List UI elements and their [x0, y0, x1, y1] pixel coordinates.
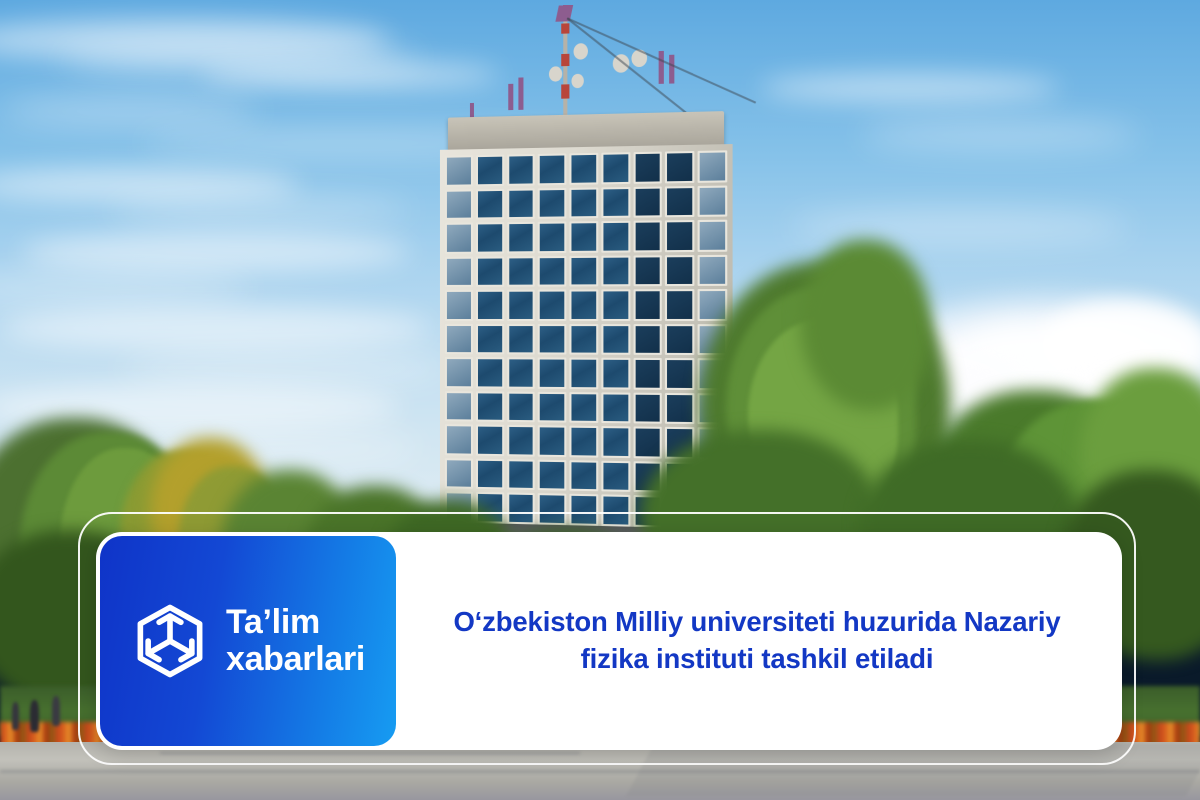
antenna-rod: [518, 77, 523, 109]
antenna-segment: [561, 54, 569, 66]
pedestrian: [30, 700, 39, 732]
cloud-streak: [110, 196, 410, 224]
cube-arrows-logo-icon: [131, 602, 209, 680]
news-banner-card[interactable]: Ta’limxabarlari O‘zbekiston Milliy unive…: [96, 532, 1122, 750]
brand-line-1: Ta’lim: [226, 603, 320, 641]
cloud-streak: [120, 350, 450, 386]
cloud-streak: [0, 306, 430, 350]
antenna-rod: [669, 55, 674, 84]
brand-name: Ta’limxabarlari: [226, 604, 365, 678]
antenna-segment: [561, 23, 569, 33]
pavement-seam: [160, 752, 580, 754]
cloud-streak: [860, 120, 1140, 150]
pedestrian: [12, 702, 19, 730]
cloud-streak: [200, 62, 500, 88]
brand-line-2: xabarlari: [226, 640, 365, 678]
news-headline: O‘zbekiston Milliy universiteti huzurida…: [426, 604, 1088, 677]
brand-block[interactable]: Ta’limxabarlari: [100, 536, 396, 746]
cloud-streak: [760, 74, 1060, 102]
tree: [800, 240, 930, 410]
cloud-streak: [0, 96, 260, 126]
headline-area: O‘zbekiston Milliy universiteti huzurida…: [400, 532, 1122, 750]
cloud-streak: [790, 210, 1130, 244]
pavement-seam: [626, 744, 1200, 796]
antenna-rod: [508, 84, 513, 110]
cloud-streak: [20, 232, 410, 272]
pedestrian: [52, 696, 60, 726]
antenna-rod: [659, 51, 664, 84]
antenna-segment: [561, 84, 569, 98]
